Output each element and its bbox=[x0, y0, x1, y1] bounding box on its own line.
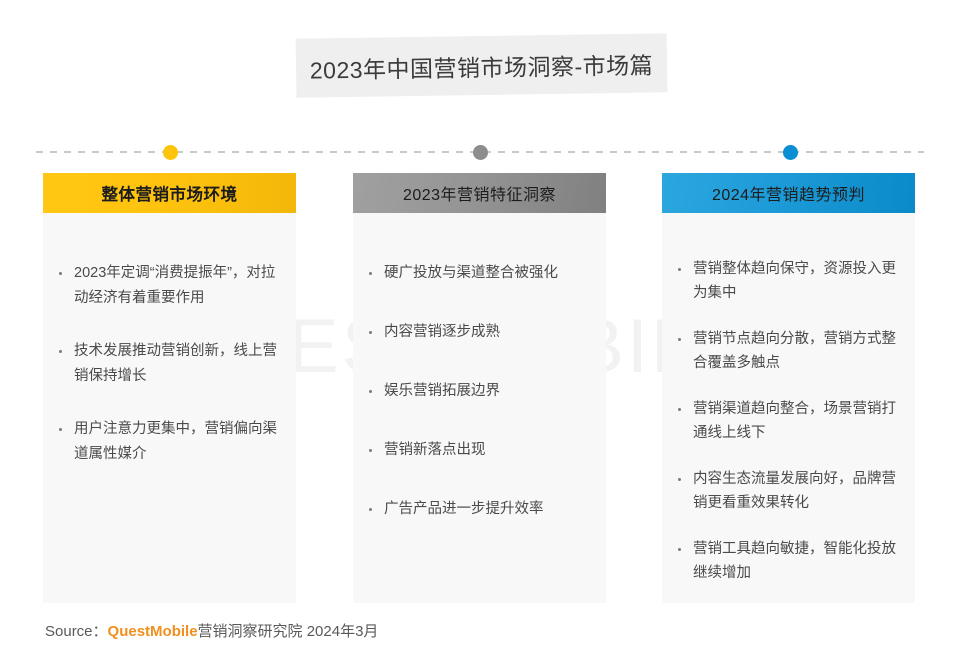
list-item: 内容生态流量发展向好，品牌营销更看重效果转化 bbox=[676, 467, 903, 515]
source-brand: QuestMobile bbox=[108, 623, 198, 640]
column-header-2: 2023年营销特征洞察 bbox=[353, 173, 606, 213]
list-item: 娱乐营销拓展边界 bbox=[367, 379, 594, 404]
source-footer: Source：QuestMobile营销洞察研究院 2024年3月 bbox=[45, 620, 378, 641]
timeline-dot-3 bbox=[783, 145, 798, 160]
list-item: 营销新落点出现 bbox=[367, 438, 594, 463]
column-header-3: 2024年营销趋势预判 bbox=[662, 173, 915, 213]
list-item: 营销渠道趋向整合，场景营销打通线上线下 bbox=[676, 397, 903, 445]
list-item: 营销整体趋向保守，资源投入更为集中 bbox=[676, 257, 903, 305]
source-suffix: 营销洞察研究院 2024年3月 bbox=[198, 623, 379, 640]
page-title: 2023年中国营销市场洞察-市场篇 bbox=[296, 33, 668, 97]
list-item: 营销节点趋向分散，营销方式整合覆盖多触点 bbox=[676, 327, 903, 375]
list-item: 硬广投放与渠道整合被强化 bbox=[367, 261, 594, 286]
list-item: 营销工具趋向敏捷，智能化投放继续增加 bbox=[676, 537, 903, 585]
column-body-1: 2023年定调“消费提振年”，对拉动经济有着重要作用 技术发展推动营销创新，线上… bbox=[43, 213, 296, 603]
list-item: 内容营销逐步成熟 bbox=[367, 320, 594, 345]
timeline-dot-1 bbox=[163, 145, 178, 160]
list-item: 用户注意力更集中，营销偏向渠道属性媒介 bbox=[57, 417, 284, 467]
list-item: 技术发展推动营销创新，线上营销保持增长 bbox=[57, 339, 284, 389]
source-label: Source： bbox=[45, 623, 108, 640]
column-body-3: 营销整体趋向保守，资源投入更为集中 营销节点趋向分散，营销方式整合覆盖多触点 营… bbox=[662, 213, 915, 603]
column-overall-market-environment: 整体营销市场环境 2023年定调“消费提振年”，对拉动经济有着重要作用 技术发展… bbox=[43, 173, 296, 603]
slide-canvas: QUESTMOBILE 2023年中国营销市场洞察-市场篇 整体营销市场环境 2… bbox=[0, 0, 960, 660]
timeline-dot-2 bbox=[473, 145, 488, 160]
list-item: 2023年定调“消费提振年”，对拉动经济有着重要作用 bbox=[57, 261, 284, 311]
column-header-1: 整体营销市场环境 bbox=[43, 173, 296, 213]
column-body-2: 硬广投放与渠道整合被强化 内容营销逐步成熟 娱乐营销拓展边界 营销新落点出现 广… bbox=[353, 213, 606, 603]
list-item: 广告产品进一步提升效率 bbox=[367, 497, 594, 522]
column-marketing-trends-2024: 2024年营销趋势预判 营销整体趋向保守，资源投入更为集中 营销节点趋向分散，营… bbox=[662, 173, 915, 603]
column-marketing-features-2023: 2023年营销特征洞察 硬广投放与渠道整合被强化 内容营销逐步成熟 娱乐营销拓展… bbox=[353, 173, 606, 603]
